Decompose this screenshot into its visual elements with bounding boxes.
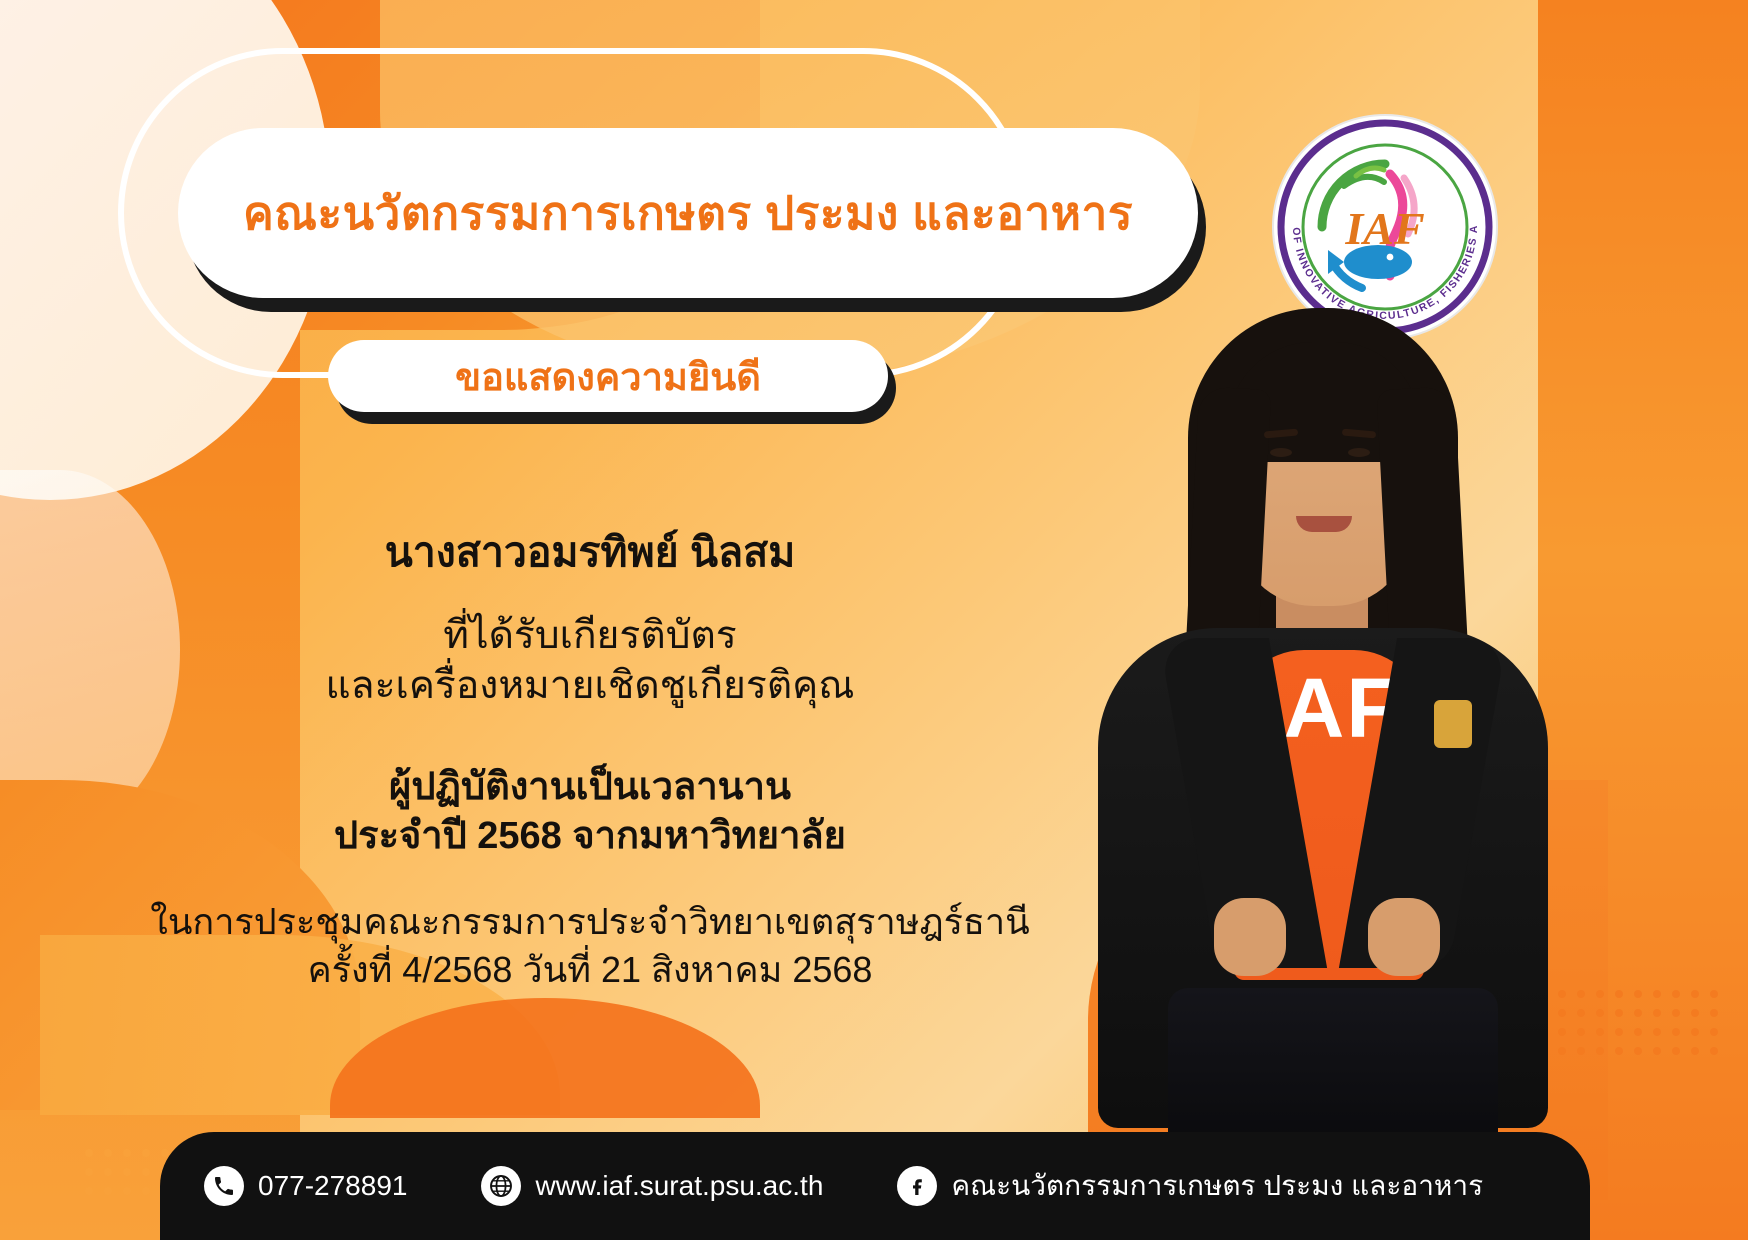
footer-phone-item: 077-278891	[204, 1166, 407, 1206]
globe-icon	[481, 1166, 521, 1206]
footer-website-item[interactable]: www.iaf.surat.psu.ac.th	[481, 1166, 823, 1206]
photo-hand-right	[1368, 898, 1440, 976]
photo-eye-right	[1348, 448, 1370, 457]
service-line-1: ผู้ปฏิบัติงานเป็นเวลานาน	[60, 763, 1120, 812]
honoree-name: นางสาวอมรทิพย์ นิลสม	[60, 520, 1120, 585]
photo-eye-left	[1270, 448, 1292, 457]
phone-icon	[204, 1166, 244, 1206]
subtitle-text: ขอแสดงความยินดี	[455, 346, 761, 407]
footer-facebook-text[interactable]: คณะนวัตกรรมการเกษตร ประมง และอาหาร	[951, 1164, 1483, 1208]
facebook-icon	[897, 1166, 937, 1206]
dot-grid-left	[85, 1149, 169, 1195]
award-line-1: ที่ได้รับเกียรติบัตร	[60, 611, 1120, 661]
faculty-title-pill: คณะนวัตกรรมการเกษตร ประมง และอาหาร	[178, 128, 1198, 298]
announcement-text-block: นางสาวอมรทิพย์ นิลสม ที่ได้รับเกียรติบัต…	[60, 520, 1120, 994]
photo-mouth	[1296, 516, 1352, 532]
service-line-2: ประจำปี 2568 จากมหาวิทยาลัย	[60, 812, 1120, 861]
meeting-line-2: ครั้งที่ 4/2568 วันที่ 21 สิงหาคม 2568	[60, 946, 1120, 994]
photo-trousers	[1168, 988, 1498, 1138]
spacer-1	[60, 711, 1120, 763]
footer-phone-text: 077-278891	[258, 1170, 407, 1202]
contact-footer-bar: 077-278891 www.iaf.surat.psu.ac.th	[160, 1132, 1590, 1240]
footer-website-text[interactable]: www.iaf.surat.psu.ac.th	[535, 1170, 823, 1202]
poster-canvas: คณะนวัตกรรมการเกษตร ประมง และอาหาร ขอแสด…	[0, 0, 1748, 1240]
photo-hand-left	[1214, 898, 1286, 976]
spacer-2	[60, 862, 1120, 898]
congratulations-pill: ขอแสดงความยินดี	[328, 340, 888, 412]
logo-acronym: IAF	[1344, 203, 1424, 254]
photo-jacket-badge	[1434, 700, 1472, 748]
honoree-photo: IAF	[1038, 298, 1598, 1118]
page-title: คณะนวัตกรรมการเกษตร ประมง และอาหาร	[243, 177, 1133, 250]
award-line-2: และเครื่องหมายเชิดชูเกียรติคุณ	[60, 661, 1120, 711]
meeting-line-1: ในการประชุมคณะกรรมการประจำวิทยาเขตสุราษฎ…	[60, 898, 1120, 946]
footer-facebook-item[interactable]: คณะนวัตกรรมการเกษตร ประมง และอาหาร	[897, 1164, 1483, 1208]
